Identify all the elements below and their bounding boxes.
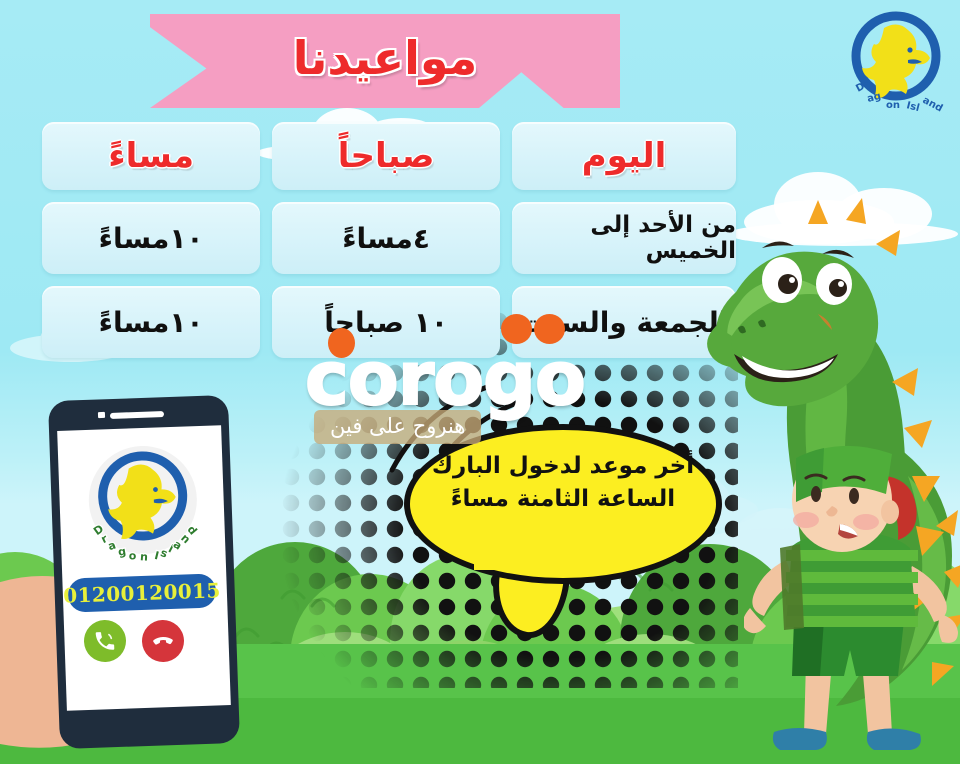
watermark-tagline: هنروح على فين xyxy=(314,410,481,444)
row0-evening-value: ١٠مساءً xyxy=(99,222,204,255)
watermark: corogo هنروح على فين xyxy=(305,336,650,446)
header-day-label: اليوم xyxy=(582,136,667,176)
schedule-table: مساءً صباحاً اليوم ١٠مساءً ٤مساءً من الأ… xyxy=(42,122,736,370)
phone-number: 01200120015 xyxy=(63,578,221,607)
row0-cell-morning: ٤مساءً xyxy=(272,202,500,274)
table-header-row: مساءً صباحاً اليوم xyxy=(42,122,736,190)
phone-camera-dot xyxy=(98,412,105,418)
header-cell-evening: مساءً xyxy=(42,122,260,190)
header-evening-label: مساءً xyxy=(108,136,194,176)
table-row: ١٠مساءً ٤مساءً من الأحد إلى الخميس xyxy=(42,202,736,274)
smartphone: D r a g o n I s l a n d 01200120015 xyxy=(54,398,234,764)
svg-text:on: on xyxy=(886,100,900,111)
header-cell-day: اليوم xyxy=(512,122,736,190)
phone-number-pill[interactable]: 01200120015 xyxy=(67,573,216,612)
header-cell-morning: صباحاً xyxy=(272,122,500,190)
speech-bubble: أخر موعد لدخول البارك الساعة الثامنة مسا… xyxy=(404,424,722,634)
row0-cell-evening: ١٠مساءً xyxy=(42,202,260,274)
svg-text:Isl: Isl xyxy=(905,100,920,114)
bubble-text: أخر موعد لدخول البارك الساعة الثامنة مسا… xyxy=(420,450,706,515)
row1-cell-evening: ١٠مساءً xyxy=(42,286,260,358)
poster-canvas: مواعيدنا Dr ag on Isl and مساءً xyxy=(0,0,960,764)
watermark-dot-g-left xyxy=(501,314,532,344)
watermark-dot-g-right xyxy=(534,314,565,344)
row0-morning-value: ٤مساءً xyxy=(342,222,430,255)
page-title: مواعيدنا xyxy=(150,14,620,102)
row1-evening-value: ١٠مساءً xyxy=(99,306,204,339)
phone-caller-logo: D r a g o n I s l a n d xyxy=(78,440,208,570)
bubble-tail-join xyxy=(474,528,604,570)
dragon-island-logo: Dr ag on Isl and xyxy=(838,4,954,116)
header-morning-label: صباحاً xyxy=(338,136,435,176)
svg-text:and: and xyxy=(921,95,945,115)
banner-ribbon: مواعيدنا xyxy=(150,14,620,108)
boy-character xyxy=(744,436,960,764)
svg-text:ag: ag xyxy=(866,91,882,105)
watermark-dot-c xyxy=(328,328,355,358)
bubble-line-2: الساعة الثامنة مساءً xyxy=(420,483,706,516)
svg-text:o: o xyxy=(129,549,137,562)
bubble-line-1: أخر موعد لدخول البارك xyxy=(420,450,706,483)
svg-text:n: n xyxy=(140,550,149,564)
